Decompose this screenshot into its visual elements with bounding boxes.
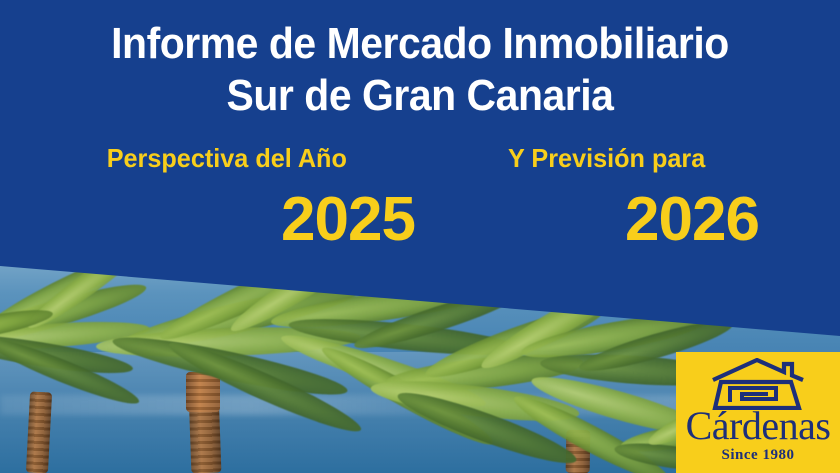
- year-2026: 2026: [625, 187, 759, 253]
- subtitle-row: Perspectiva del Año Y Previsión para: [0, 143, 840, 183]
- logo-tagline: Since 1980: [676, 446, 840, 464]
- company-logo[interactable]: Cárdenas Since 1980: [676, 352, 840, 473]
- kicker-left: Perspectiva del Año: [107, 143, 347, 173]
- title-line-2: Sur de Gran Canaria: [29, 70, 810, 122]
- kicker-right: Y Previsión para: [508, 143, 705, 173]
- title-line-1: Informe de Mercado Inmobiliario: [29, 18, 810, 70]
- year-2025: 2025: [281, 187, 415, 253]
- marketing-banner: Informe de Mercado Inmobiliario Sur de G…: [0, 0, 840, 473]
- page-title: Informe de Mercado Inmobiliario Sur de G…: [0, 18, 840, 122]
- logo-wordmark: Cárdenas: [676, 404, 840, 448]
